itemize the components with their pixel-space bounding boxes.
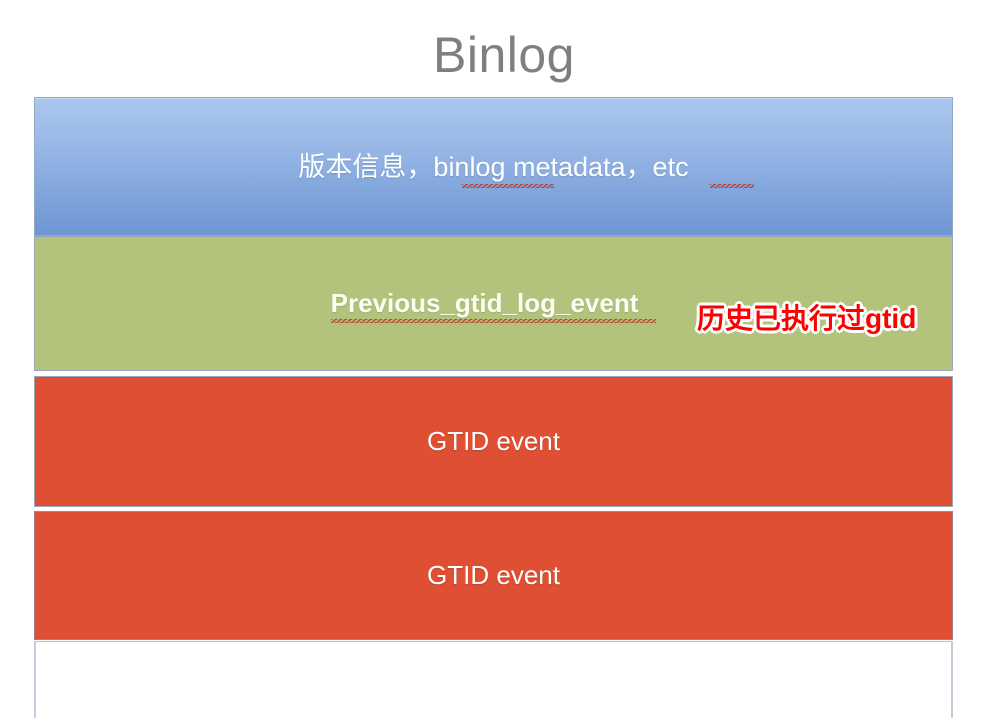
page-title: Binlog [0, 26, 1008, 84]
spellcheck-squiggle-binlog [462, 184, 554, 188]
band-metadata-label-wrap: 版本信息，binlog metadata，etc [298, 150, 688, 184]
band-metadata: 版本信息，binlog metadata，etc [34, 97, 953, 236]
slide-canvas: Binlog 版本信息，binlog metadata，etc Previous… [0, 0, 1008, 718]
band-empty-tail [34, 641, 953, 718]
band-gtid-event-1: GTID event [34, 376, 953, 507]
band-previous-gtid-label: Previous_gtid_log_event [331, 288, 639, 318]
band-gtid-event-1-label: GTID event [427, 425, 560, 458]
band-metadata-label: 版本信息，binlog metadata，etc [298, 152, 688, 182]
spellcheck-squiggle-previous-gtid [331, 319, 657, 323]
band-gtid-event-2: GTID event [34, 511, 953, 640]
band-gtid-event-2-label: GTID event [427, 559, 560, 592]
annotation-history-executed-gtid: 历史已执行过gtid [697, 302, 916, 336]
band-previous-gtid-label-wrap: Previous_gtid_log_event [331, 287, 657, 320]
binlog-diagram: 版本信息，binlog metadata，etc Previous_gtid_l… [34, 97, 953, 718]
spellcheck-squiggle-etc [710, 184, 754, 188]
